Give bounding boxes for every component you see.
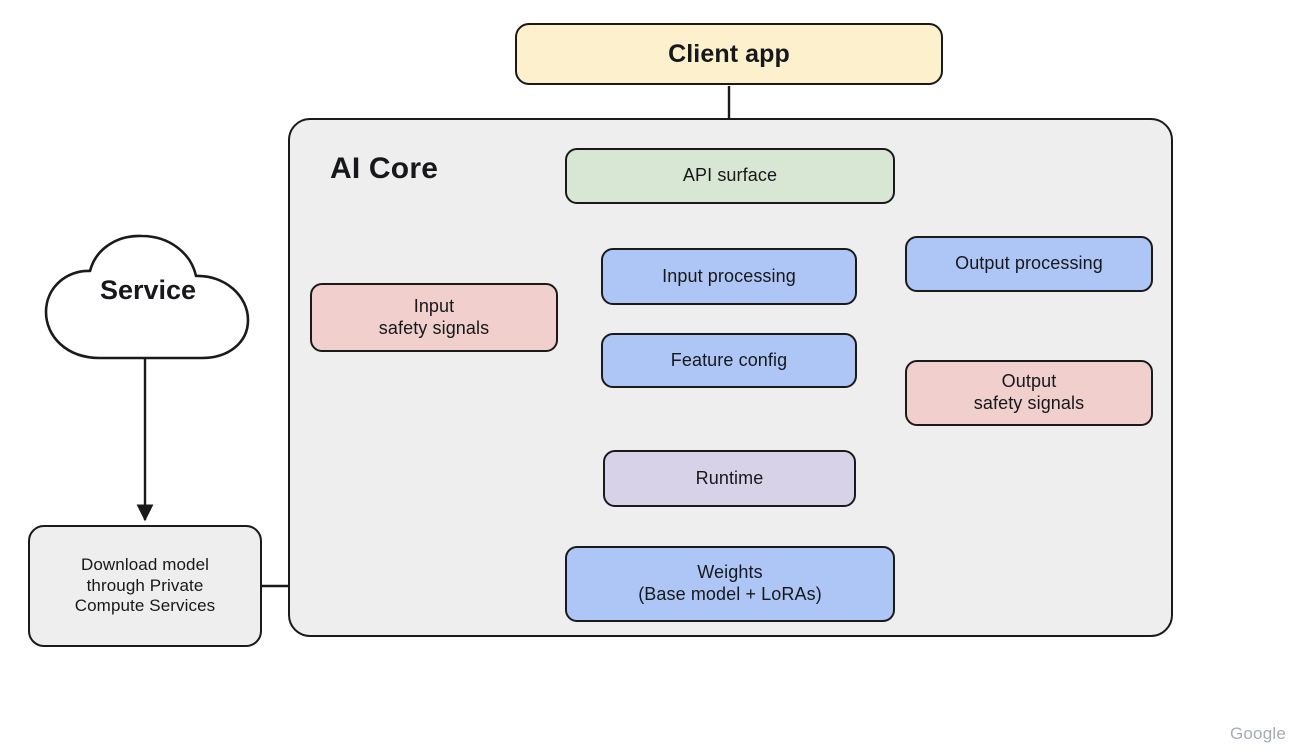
node-weights[interactable]: Weights (Base model + LoRAs): [565, 546, 895, 622]
node-output-processing[interactable]: Output processing: [905, 236, 1153, 292]
service-label: Service: [38, 275, 258, 306]
node-api-surface[interactable]: API surface: [565, 148, 895, 204]
node-runtime[interactable]: Runtime: [603, 450, 856, 507]
node-feature-config[interactable]: Feature config: [601, 333, 857, 388]
node-output-safety-signals[interactable]: Output safety signals: [905, 360, 1153, 426]
ai-core-label: AI Core: [330, 152, 438, 186]
node-download-model[interactable]: Download model through Private Compute S…: [28, 525, 262, 647]
node-input-safety-signals[interactable]: Input safety signals: [310, 283, 558, 352]
node-client-app[interactable]: Client app: [515, 23, 943, 85]
diagram-canvas: Service AI Core Client app API surface I…: [0, 0, 1304, 756]
google-watermark: Google: [1230, 724, 1286, 744]
node-input-processing[interactable]: Input processing: [601, 248, 857, 305]
